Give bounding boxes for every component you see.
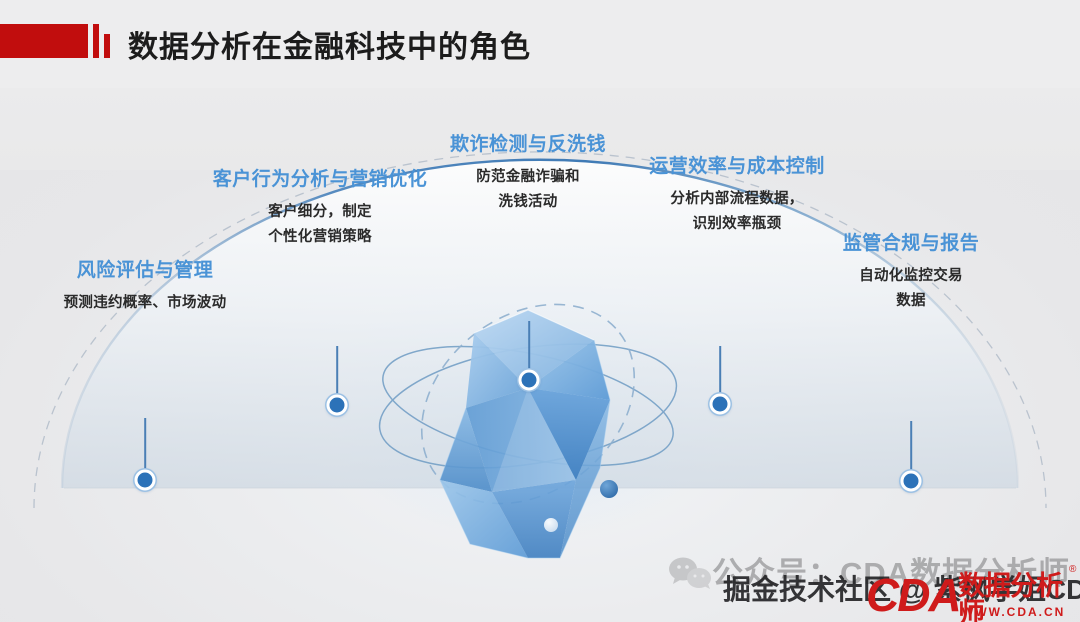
cda-registered-mark: ® xyxy=(1069,564,1076,575)
node-title-customer: 客户行为分析与营销优化 xyxy=(213,167,428,193)
slide-header: 数据分析在金融科技中的角色 xyxy=(0,0,1080,88)
node-label-customer[interactable]: 客户行为分析与营销优化 客户细分，制定 个性化营销策略 xyxy=(213,167,428,250)
node-stem-efficiency xyxy=(719,346,721,399)
header-accent-bar-tall xyxy=(93,24,99,58)
page-title: 数据分析在金融科技中的角色 xyxy=(128,22,531,66)
node-desc-customer: 客户细分，制定 个性化营销策略 xyxy=(213,200,428,251)
node-label-compliance[interactable]: 监管合规与报告 自动化监控交易 数据 xyxy=(843,231,980,314)
wechat-icon xyxy=(668,556,712,590)
node-label-efficiency[interactable]: 运营效率与成本控制 分析内部流程数据， 识别效率瓶颈 xyxy=(649,154,825,237)
cda-logo: CDA 数据分析师 WWW.CDA.CN ® xyxy=(866,572,1080,622)
orbit-sphere-light xyxy=(544,518,558,532)
node-stem-customer xyxy=(336,346,338,399)
node-dot-customer[interactable] xyxy=(327,395,348,416)
node-desc-risk: 预测违约概率、市场波动 xyxy=(64,291,227,316)
node-stem-compliance xyxy=(910,421,912,476)
node-label-fraud[interactable]: 欺诈检测与反洗钱 防范金融诈骗和 洗钱活动 xyxy=(450,132,606,215)
node-desc-efficiency: 分析内部流程数据， 识别效率瓶颈 xyxy=(649,187,825,238)
node-title-compliance: 监管合规与报告 xyxy=(843,231,980,257)
node-desc-fraud: 防范金融诈骗和 洗钱活动 xyxy=(450,165,606,216)
node-stem-risk xyxy=(144,418,146,474)
slide-canvas: 数据分析在金融科技中的角色 xyxy=(0,0,1080,622)
node-stem-fraud xyxy=(528,321,530,375)
node-title-risk: 风险评估与管理 xyxy=(64,258,227,284)
node-title-fraud: 欺诈检测与反洗钱 xyxy=(450,132,606,158)
orbit-sphere-dark xyxy=(600,480,618,498)
node-dot-compliance[interactable] xyxy=(901,471,922,492)
node-desc-compliance: 自动化监控交易 数据 xyxy=(843,264,980,315)
cda-logo-url: WWW.CDA.CN xyxy=(962,605,1065,619)
header-accent-bar-short xyxy=(104,34,110,58)
node-title-efficiency: 运营效率与成本控制 xyxy=(649,154,825,180)
node-dot-efficiency[interactable] xyxy=(710,394,731,415)
cda-logo-mark: CDA xyxy=(866,572,960,618)
header-accent-block xyxy=(0,24,88,58)
node-label-risk[interactable]: 风险评估与管理 预测违约概率、市场波动 xyxy=(64,258,227,316)
node-dot-fraud[interactable] xyxy=(519,370,540,391)
node-dot-risk[interactable] xyxy=(135,470,156,491)
